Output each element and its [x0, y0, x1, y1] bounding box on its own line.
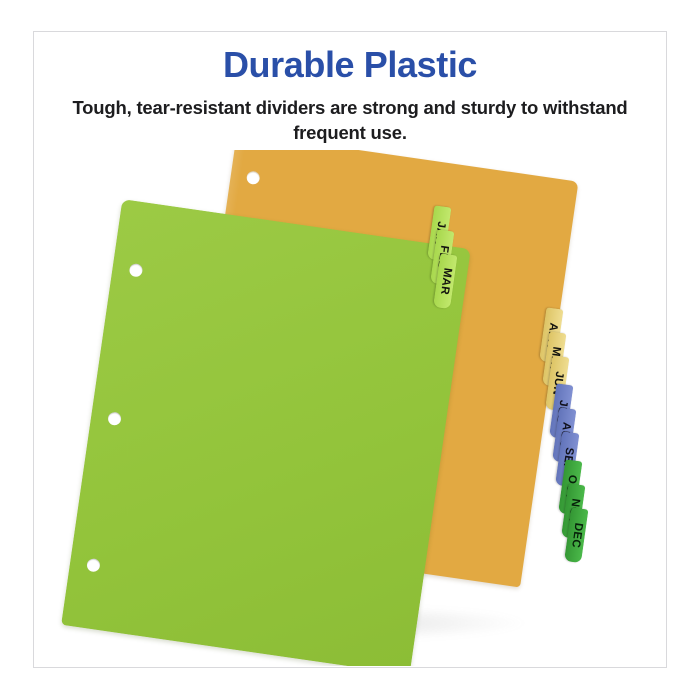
punch-hole	[107, 411, 122, 426]
banner-text-block: Durable Plastic Tough, tear-resistant di…	[33, 44, 667, 146]
banner-subheadline: Tough, tear-resistant dividers are stron…	[33, 96, 667, 145]
tab-label: DEC	[569, 522, 584, 549]
page-title: Durable Plastic	[33, 44, 667, 86]
punch-hole	[129, 263, 144, 278]
product-feature-image: Durable Plastic Tough, tear-resistant di…	[0, 0, 700, 700]
product-photo: APR MAY JUN JUL AUG SEP OCT	[34, 150, 666, 666]
punch-hole	[246, 170, 261, 185]
divider-sheet-green	[61, 199, 471, 666]
punch-hole	[86, 558, 101, 573]
tab-label: MAR	[438, 267, 453, 295]
